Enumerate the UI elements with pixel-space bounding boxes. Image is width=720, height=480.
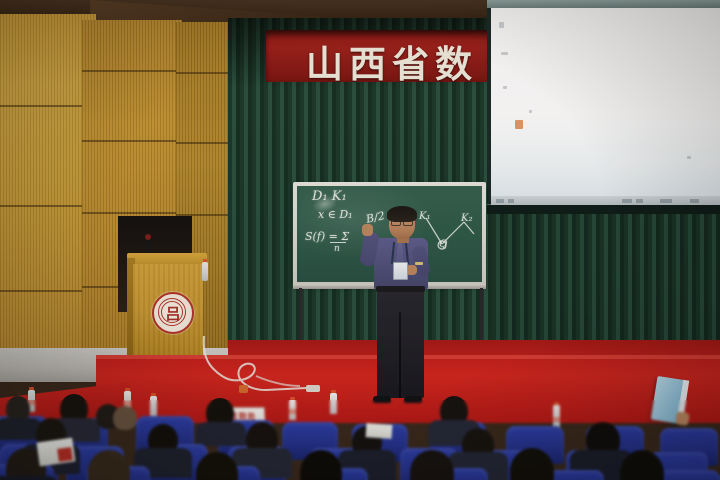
projection-screen-surface[interactable] <box>491 8 720 204</box>
chalk-fraction-bar <box>330 242 346 243</box>
bottle-cap <box>29 387 34 390</box>
audience-shoulders <box>0 476 58 480</box>
cable-connector <box>306 385 320 392</box>
diagram-node-q: Q <box>439 240 447 250</box>
slide-mark <box>687 156 691 159</box>
taskbar-icon[interactable] <box>636 199 643 203</box>
taskbar-icon[interactable] <box>622 199 632 203</box>
projection-screen-bottom <box>487 205 720 214</box>
university-seal-icon: 吕 <box>152 292 194 334</box>
slide-mark <box>503 86 507 89</box>
bottle-cap <box>151 393 156 396</box>
handout-paper[interactable] <box>366 423 393 439</box>
chalk-line-4: n <box>334 245 340 254</box>
podium-water-bottle <box>202 262 208 281</box>
diagram-node-k1: K₁ <box>419 212 430 222</box>
speaker-hand-raised <box>362 224 373 236</box>
slide-orange-mark <box>515 120 523 129</box>
microphone-icon <box>145 234 151 240</box>
slide-mark <box>529 110 532 113</box>
banner-title: 山西省数 <box>306 34 478 82</box>
stage-cable <box>196 336 316 398</box>
speaker-wristwatch <box>415 262 423 265</box>
glasses-icon <box>403 220 413 226</box>
speaker-leg-seam <box>399 312 401 398</box>
water-bottle <box>330 393 337 414</box>
audience-head <box>113 406 137 430</box>
taskbar-icon[interactable] <box>690 199 699 203</box>
chalk-line-3: S(f) = Σ <box>305 231 349 242</box>
diagram-node-k2: K₂ <box>461 214 472 224</box>
water-bottle <box>150 396 157 416</box>
audience <box>0 392 720 480</box>
wall-seam <box>176 142 228 144</box>
speaker-id-badge <box>393 262 408 280</box>
projected-taskbar[interactable] <box>491 196 720 205</box>
bottle-cap <box>125 388 130 391</box>
handout-paper-accent <box>57 447 73 462</box>
taskbar-icon[interactable] <box>508 199 514 203</box>
glasses-icon <box>391 220 401 226</box>
chalk-line-1: D₁ K₁ <box>312 190 347 203</box>
bottle-label <box>289 409 296 414</box>
bottle-cap <box>290 397 295 400</box>
wall-seam <box>176 72 228 74</box>
lecture-hall-photo: 山西省数 D₁ K₁ x ∈ D₁ S(f) = Σ n B/2 K₁ K₂ Q <box>0 0 720 480</box>
audience-hand <box>675 411 690 426</box>
bottle-cap <box>331 390 336 393</box>
taskbar-icon[interactable] <box>496 199 504 203</box>
speaker-belt <box>376 286 425 292</box>
bottle-label <box>553 417 560 422</box>
wall-seam <box>82 212 182 214</box>
wall-seam <box>82 140 182 142</box>
slide-mark <box>499 22 504 28</box>
bottle-cap <box>554 402 559 405</box>
banner-fold-shadow <box>266 30 492 40</box>
wall-seam <box>82 70 182 72</box>
slide-mark <box>501 52 508 55</box>
audience-shoulders <box>196 422 246 446</box>
chalk-line-2: x ∈ D₁ <box>318 209 353 220</box>
seal-glyph: 吕 <box>154 303 192 324</box>
taskbar-icon[interactable] <box>660 199 672 203</box>
